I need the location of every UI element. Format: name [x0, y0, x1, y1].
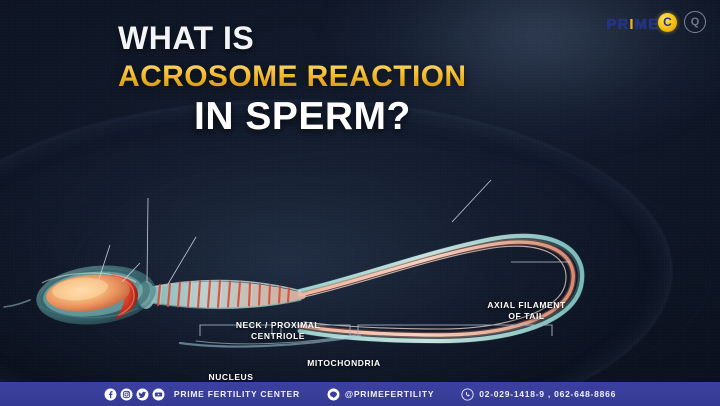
quality-badge-letter: Q — [691, 17, 700, 28]
footer-bar: PRIME FERTILITY CENTER @PRIMEFERTILITY 0… — [0, 382, 720, 406]
instagram-icon[interactable] — [120, 388, 133, 401]
title-line-2: ACROSOME REACTION — [118, 59, 638, 94]
footer-page-name: PRIME FERTILITY CENTER — [174, 389, 300, 399]
label-neck-proximal-centriole: NECK / PROXIMAL CENTRIOLE — [219, 320, 337, 343]
sperm-diagram: ACROSOME NUCLEUS NECK / PROXIMAL CENTRIO… — [0, 140, 720, 375]
facebook-icon[interactable] — [104, 388, 117, 401]
coin-icon: C — [658, 13, 677, 32]
footer-phone-block[interactable]: 02-029-1418-9 , 062-648-8866 — [461, 388, 616, 401]
footer-line-block[interactable]: @PRIMEFERTILITY — [327, 388, 434, 401]
quality-badge-icon: Q — [684, 11, 706, 33]
twitter-icon[interactable] — [136, 388, 149, 401]
infographic-canvas: PRIME C Q WHAT IS ACROSOME REACTION IN S… — [0, 0, 720, 406]
footer-phone-numbers: 02-029-1418-9 , 062-648-8866 — [479, 389, 616, 399]
page-title: WHAT IS ACROSOME REACTION IN SPERM? — [118, 22, 638, 139]
footer-line-handle: @PRIMEFERTILITY — [345, 389, 434, 399]
title-line-1: WHAT IS — [118, 22, 638, 56]
phone-icon[interactable] — [461, 388, 474, 401]
label-axial-filament: AXIAL FILAMENT OF TAIL — [459, 300, 594, 323]
title-line-3: IN SPERM? — [194, 96, 638, 139]
coin-icon-letter: C — [663, 16, 672, 28]
sperm-illustration — [0, 140, 720, 375]
social-icons-group — [104, 388, 165, 401]
line-icon[interactable] — [327, 388, 340, 401]
label-mitochondria: MITOCHONDRIA — [290, 358, 398, 369]
brand-wordmark-post: ME — [635, 16, 660, 33]
youtube-icon[interactable] — [152, 388, 165, 401]
